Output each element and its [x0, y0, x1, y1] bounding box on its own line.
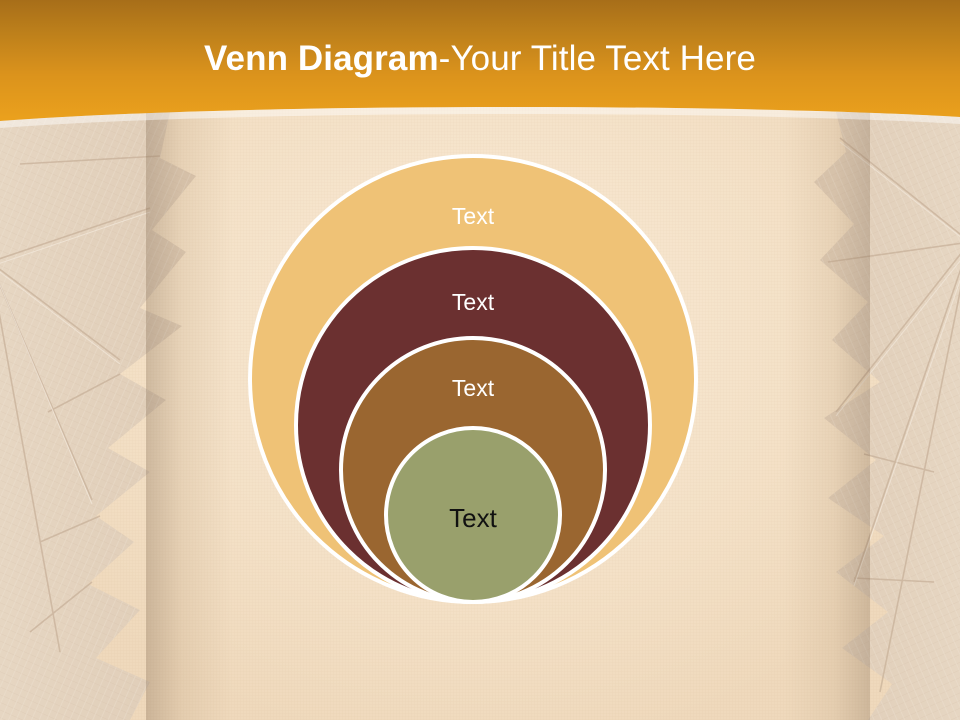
venn-label-1[interactable]: Text [373, 203, 573, 230]
slide-canvas: Venn Diagram - Your Title Text Here Text… [0, 0, 960, 720]
venn-label-4[interactable]: Text [373, 503, 573, 534]
venn-label-3[interactable]: Text [373, 375, 573, 402]
venn-label-2[interactable]: Text [373, 289, 573, 316]
venn-circles [0, 0, 960, 720]
venn-diagram: Text Text Text Text [0, 0, 960, 720]
